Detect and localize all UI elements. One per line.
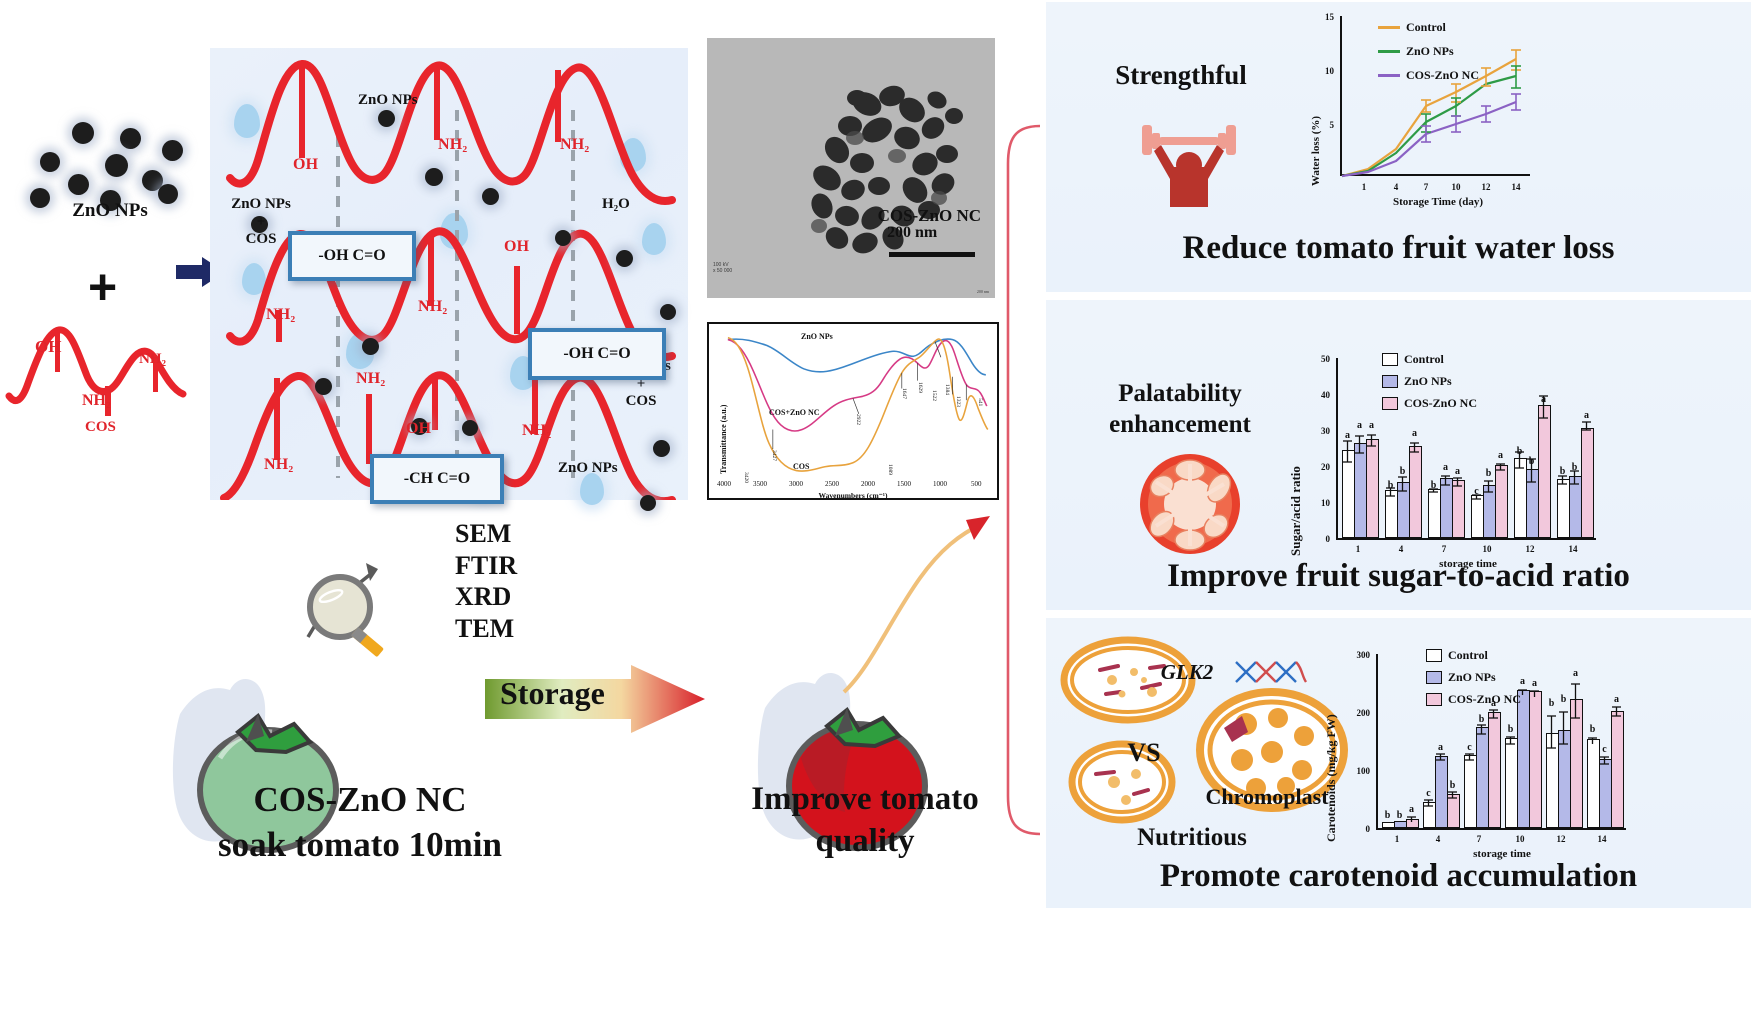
schematic-nanoparticles [210,48,688,500]
legend-label-znonps: ZnO NPs [1448,670,1496,685]
caption-improve-quality: Improve tomato quality [700,778,1030,862]
carotenoid-bars: b b a c a b c b a b [1378,654,1626,828]
carotenoid-ytick-0: 0 [1340,824,1370,834]
schematic-label-oh-1: OH [293,156,318,174]
ftir-xtick-2000: 2000 [861,480,875,488]
water-loss-xtick-7: 7 [1416,182,1436,192]
schematic-label-h2o: H₂O [602,196,630,213]
sugar-acid-ylabel: Sugar/acid ratio [1288,466,1304,556]
technique-ftir: FTIR [455,550,517,582]
characterization-technique-list: SEM FTIR XRD TEM [455,518,517,645]
vs-label: VS [1114,738,1174,768]
schematic-label-nh2-7: NH₂ [522,422,551,440]
side-label-nutritious: Nutritious [1092,824,1292,852]
ftir-xtick-1500: 1500 [897,480,911,488]
carotenoid-xtick-10: 10 [1510,834,1530,844]
sugar-acid-ytick-20: 20 [1304,462,1330,472]
sugar-acid-ytick-40: 40 [1304,390,1330,400]
ftir-xtick-4000: 4000 [717,480,731,488]
water-loss-ytick-15: 15 [1310,12,1334,22]
ftir-peak-1629: 1629 [917,382,923,393]
sugar-acid-ytick-50: 50 [1304,354,1330,364]
cos-name-label: COS [85,419,116,436]
tem-scale-bar [889,252,975,257]
carotenoid-xtick-14: 14 [1592,834,1612,844]
sugar-acid-ytick-30: 30 [1304,426,1330,436]
ftir-peak-1647: 1647 [901,388,907,399]
legend-label-znonps: ZnO NPs [1404,374,1452,389]
water-loss-ytick-10: 10 [1310,66,1334,76]
water-loss-legend-znonps: ZnO NPs [1378,44,1454,59]
carotenoid-legend-znonps: ZnO NPs [1426,670,1496,685]
ftir-series-label-znonps: ZnO NPs [801,332,833,341]
water-loss-chart: Water loss (%) 15 10 5 [1292,10,1732,222]
ftir-xtick-3000: 3000 [789,480,803,488]
schematic-label-nh2-2: NH₂ [560,136,589,154]
ftir-peak-1384: 1384 [944,384,950,395]
water-loss-legend-cosznonc: COS-ZnO NC [1378,68,1479,83]
sugar-acid-xtick-10: 10 [1477,544,1497,554]
carotenoid-x-axis [1376,828,1626,830]
water-loss-xtick-14: 14 [1506,182,1526,192]
sugar-acid-chart: Sugar/acid ratio 50 40 30 20 10 0 a a a [1282,338,1742,578]
ftir-peak-1089: 1089 [887,464,893,475]
carotenoid-legend-cosznonc: COS-ZnO NC [1426,692,1521,707]
panel-water-loss: Strengthful Water loss (%) 15 10 5 [1046,2,1751,292]
tem-sample-label: COS-ZnO NC [878,206,981,226]
zno-nps-label: ZnO NPs [40,200,180,222]
carotenoid-legend-control: Control [1426,648,1488,663]
chip-oh-co-1: -OH C=O [288,231,416,281]
cos-oh-label: OH [35,337,61,357]
schematic-label-oh-2: OH [504,238,529,256]
water-loss-xlabel: Storage Time (day) [1340,196,1536,208]
ftir-xtick-500: 500 [971,480,982,488]
ftir-peak-1323: 1323 [955,396,961,407]
legend-label-control: Control [1404,352,1444,367]
cos-nh2-bottom-label: NH₂ [82,392,111,410]
schematic-label-oh-3: OH [406,420,431,438]
carotenoid-xtick-4: 4 [1428,834,1448,844]
carotenoid-chart: Carotenoids (mg/kg FW) 300 200 100 0 b b… [1320,632,1740,856]
ftir-spectrum-chart: Transmittance (a.u.) ZnO NPs COS+ZnO NC … [707,322,999,500]
ftir-x-axis-label: Wavenumbers (cm⁻¹) [709,491,997,500]
schematic-label-nh2-1: NH₂ [438,136,467,154]
caption-improve-sugar-acid: Improve fruit sugar-to-acid ratio [1046,558,1751,595]
legend-swatch-control [1426,649,1442,662]
legend-label-control: Control [1406,20,1446,35]
tem-scale-text: 200 nm [887,224,937,242]
water-loss-series [1340,14,1536,178]
sugar-acid-legend-cosznonc: COS-ZnO NC [1382,396,1477,411]
carotenoid-xtick-1: 1 [1387,834,1407,844]
chip-oh-co-2: -OH C=O [528,328,666,380]
legend-swatch-cosznonc [1426,693,1442,706]
carotenoid-ytick-200: 200 [1340,708,1370,718]
caption-promote-carotenoid: Promote carotenoid accumulation [1046,858,1751,895]
results-bracket [996,120,1046,840]
schematic-label-nh2-6: NH₂ [356,370,385,388]
cos-zno-interaction-schematic: OH ZnO NPs NH₂ NH₂ H₂O ZnO NPs + COS NH₂… [210,48,688,500]
legend-label-znonps: ZnO NPs [1406,44,1454,59]
carotenoid-xtick-7: 7 [1469,834,1489,844]
carotenoid-ytick-100: 100 [1340,766,1370,776]
sugar-acid-x-axis [1336,538,1596,540]
water-loss-ytick-5: 5 [1310,120,1334,130]
sugar-acid-legend-znonps: ZnO NPs [1382,374,1452,389]
zno-nanoparticle [68,174,89,195]
result-curve-arrow [830,500,1010,700]
zno-nanoparticle [105,154,128,177]
technique-tem: TEM [455,613,517,645]
sugar-acid-xtick-14: 14 [1563,544,1583,554]
glk2-gene-label: GLK2 [1142,660,1232,685]
tem-instrument-stamp: 100 kV x 50 000 [713,262,732,275]
water-loss-legend-control: Control [1378,20,1446,35]
dna-helix-icon [1232,658,1308,686]
sugar-acid-xtick-12: 12 [1520,544,1540,554]
sugar-acid-xtick-4: 4 [1391,544,1411,554]
schematic-label-zno-nps-bottom: ZnO NPs [558,460,618,477]
legend-label-control: Control [1448,648,1488,663]
water-loss-xtick-1: 1 [1354,182,1374,192]
legend-label-cosznonc: COS-ZnO NC [1448,692,1521,707]
legend-swatch-znonps-line [1378,50,1400,53]
ftir-series-label-cos: COS [793,462,809,471]
legend-swatch-control [1382,353,1398,366]
water-loss-xtick-12: 12 [1476,182,1496,192]
tem-micrograph: COS-ZnO NC 200 nm 100 kV x 50 000 200 nm [707,38,995,298]
legend-swatch-cosznonc [1382,397,1398,410]
ftir-peak-2922: 2922 [855,414,861,425]
sugar-acid-ytick-0: 0 [1304,534,1330,544]
ftir-series-label-coszno: COS+ZnO NC [769,408,820,417]
sugar-acid-ytick-10: 10 [1304,498,1330,508]
weightlifter-icon [1134,107,1244,212]
sugar-acid-legend-control: Control [1382,352,1444,367]
water-loss-xtick-4: 4 [1386,182,1406,192]
legend-swatch-znonps [1382,375,1398,388]
cos-nh2-right-label: NH₂ [139,351,166,368]
zno-nanoparticle [162,140,183,161]
zno-nanoparticle [40,152,60,172]
ftir-peak-3427: 3427 [771,450,777,461]
ftir-xtick-2500: 2500 [825,480,839,488]
technique-sem: SEM [455,518,517,550]
zno-nanoparticle [120,128,141,149]
legend-label-cosznonc: COS-ZnO NC [1406,68,1479,83]
panel-sugar-acid: Palatability enhancement [1046,300,1751,610]
ftir-xtick-1000: 1000 [933,480,947,488]
plus-sign: + [88,262,117,312]
caption-soak-tomato: COS-ZnO NC soak tomato 10min [150,778,570,868]
sugar-acid-error-bars [1338,358,1596,538]
tomato-slice-icon [1136,450,1244,558]
ftir-peak-1522: 1522 [931,390,937,401]
ftir-peak-3420: 3420 [743,472,749,483]
schematic-label-nh2-3: NH₂ [266,306,295,324]
legend-label-cosznonc: COS-ZnO NC [1404,396,1477,411]
legend-swatch-control-line [1378,26,1400,29]
ftir-xtick-3500: 3500 [753,480,767,488]
panel-carotenoid: GLK2 VS Chromoplast Nutritious Carotenoi… [1046,618,1751,908]
side-label-palatability: Palatability enhancement [1060,378,1300,441]
carotenoid-ytick-300: 300 [1340,650,1370,660]
tem-scale-stamp: 200 nm [977,289,989,294]
results-column: Strengthful Water loss (%) 15 10 5 [1038,0,1751,1015]
schematic-label-nh2-4: NH₂ [418,298,447,316]
side-label-strengthful: Strengthful [1066,60,1296,91]
zno-nanoparticle [72,122,94,144]
caption-reduce-water-loss: Reduce tomato fruit water loss [1046,230,1751,267]
legend-swatch-cosznonc-line [1378,74,1400,77]
ftir-peak-541: 541 [977,398,983,406]
water-loss-xtick-10: 10 [1446,182,1466,192]
technique-xrd: XRD [455,581,517,613]
schematic-label-zno-nps-top: ZnO NPs [358,92,418,109]
carotenoid-error-bars [1378,654,1626,828]
legend-swatch-znonps [1426,671,1442,684]
sugar-acid-bars: a a a b b a b a a c [1338,358,1596,538]
schematic-label-nh2-5: NH₂ [264,456,293,474]
carotenoid-ylabel: Carotenoids (mg/kg FW) [1324,714,1339,842]
carotenoid-xtick-12: 12 [1551,834,1571,844]
chip-ch-co: -CH C=O [370,454,504,504]
storage-label: Storage [500,675,605,712]
sugar-acid-xtick-1: 1 [1348,544,1368,554]
sugar-acid-xtick-7: 7 [1434,544,1454,554]
